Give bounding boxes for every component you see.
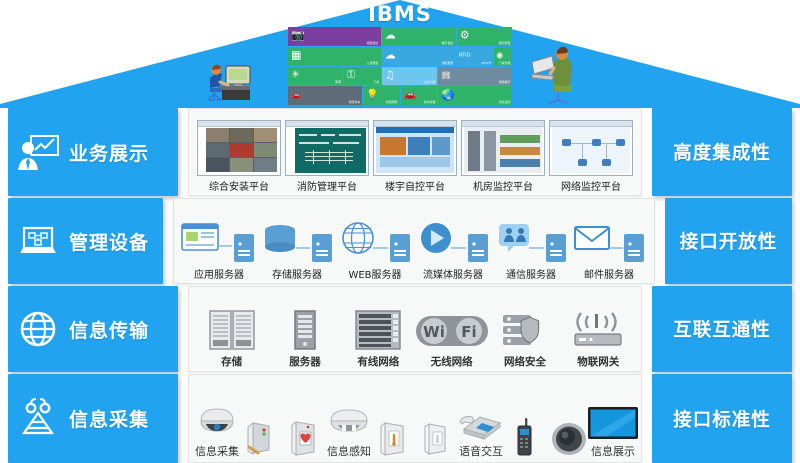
item-art: Wi Fi: [414, 306, 490, 352]
light-switch-icon: [421, 419, 453, 457]
rfid-icon: RFID: [459, 51, 471, 61]
roof-tile-label: 智能楼宇: [498, 80, 510, 84]
item-art: [258, 216, 336, 264]
item-caption: 流媒体服务器: [423, 266, 483, 281]
roof-tile-smart-parking-photo[interactable]: 🚗 智能停车: [288, 86, 362, 105]
roof-section: 📷 视频监控 ☁ 楼宇自控 ⚙ 能源管理 ▦ 入侵报警 ☁ 消防报警 RFID: [0, 0, 800, 108]
item-caption: 信息采集: [195, 443, 239, 459]
attribute-text: 高度集成性: [673, 139, 771, 165]
item-art: [549, 120, 633, 176]
person-with-laptop-icon: [528, 38, 586, 104]
layer-label-business-display[interactable]: 业务展示: [8, 108, 178, 196]
item-art: [570, 216, 648, 264]
layer-content-business-display: 综合安装平台: [188, 108, 642, 196]
item-art: [243, 415, 279, 457]
svg-text:Fi: Fi: [461, 323, 476, 341]
laptop-network-icon: [16, 219, 60, 263]
item-art: [326, 399, 372, 441]
attribute-interface-standardization[interactable]: 接口标准性: [652, 374, 792, 463]
roof-tile-label: 楼宇自控: [442, 41, 454, 45]
wireless-router-icon: [569, 310, 627, 352]
parking-photo-icon: 🚗: [291, 90, 301, 100]
roof-tile-label: RFID卡: [481, 61, 491, 65]
ibms-architecture-diagram: 📷 视频监控 ☁ 楼宇自控 ⚙ 能源管理 ▦ 入侵报警 ☁ 消防报警 RFID: [0, 0, 800, 463]
item-application-server[interactable]: 应用服务器: [180, 203, 258, 281]
item-caption: 有线网络: [357, 354, 399, 369]
item-art: [421, 415, 453, 457]
globe-icon: [16, 307, 60, 351]
item-caption: 综合安装平台: [209, 178, 269, 193]
item-caption: 存储服务器: [272, 266, 322, 281]
roof-tile-energy-management[interactable]: ⚙ 能源管理: [457, 27, 512, 46]
dome-camera-icon: [195, 405, 239, 441]
item-caption: 邮件服务器: [584, 266, 634, 281]
layer-content-information-transmission: 存储 服务器: [188, 286, 642, 372]
item-art: [512, 415, 538, 457]
svg-text:Wi: Wi: [423, 323, 445, 341]
item-datacenter-monitoring-platform[interactable]: 机房监控平台: [459, 113, 547, 193]
attribute-high-integration[interactable]: 高度集成性: [652, 108, 792, 196]
attribute-interconnectivity[interactable]: 互联互通性: [652, 286, 792, 372]
layer-label-information-collection[interactable]: 信息采集: [8, 374, 178, 463]
storage-cabinet-icon: [204, 308, 260, 352]
roof-tile-door-key[interactable]: ⚿ 门禁: [344, 67, 381, 86]
item-building-automation-platform[interactable]: 楼宇自控平台: [371, 113, 459, 193]
roof-tile-rfid[interactable]: RFID RFID卡: [457, 47, 494, 66]
item-mail-server[interactable]: 邮件服务器: [570, 203, 648, 281]
item-art: [376, 415, 410, 457]
item-art: [195, 399, 239, 441]
music-note-icon: ♫: [385, 70, 395, 80]
item-caption: 网络安全: [504, 354, 546, 369]
item-caption: 机房监控平台: [473, 178, 533, 193]
database-cylinder-icon: [258, 220, 336, 264]
grid-panel-icon: ▦: [291, 51, 301, 61]
roof-tile-lighting[interactable]: ☀ 照明: [288, 67, 343, 86]
item-caption: 物联网关: [577, 354, 619, 369]
emergency-button-icon: [288, 419, 322, 457]
attribute-text: 互联互通性: [673, 316, 771, 342]
sensor-antenna-icon: [16, 397, 60, 441]
roof-tile-label: 能源管理: [498, 41, 510, 45]
application-window-icon: [180, 220, 258, 264]
roof-tile-label: 消防报警: [442, 61, 454, 65]
item-art: [204, 306, 260, 352]
environment-icon: 🌏: [441, 90, 455, 100]
item-walkie-talkie[interactable]: [503, 415, 547, 459]
item-server[interactable]: 服务器: [268, 291, 341, 369]
fire-drop-icon: ☁: [385, 51, 396, 61]
item-caption: 语音交互: [459, 443, 503, 459]
envelope-icon: [570, 220, 648, 264]
item-art: [373, 120, 457, 176]
bulb-icon: 💡: [366, 90, 378, 100]
item-art: [197, 120, 281, 176]
item-emergency-button[interactable]: [283, 415, 327, 459]
layer-row-information-collection: 信息采集 信息采集: [0, 374, 800, 463]
roof-tile-label: 门禁: [373, 80, 379, 84]
walkie-talkie-icon: [512, 417, 538, 457]
layer-label-text: 信息采集: [69, 405, 149, 432]
display-screen-icon: [586, 405, 640, 441]
access-control-icon: ◉: [496, 51, 503, 61]
network-topology-screenshot: [549, 120, 633, 176]
item-wired-network[interactable]: 有线网络: [342, 291, 415, 369]
item-caption: 信息感知: [327, 443, 371, 459]
item-storage[interactable]: 存储: [195, 291, 268, 369]
item-network-security[interactable]: 网络安全: [488, 291, 561, 369]
wifi-badge-icon: Wi Fi: [414, 310, 490, 352]
item-caption: 消防管理平台: [297, 178, 357, 193]
desk-phone-icon: [456, 409, 506, 441]
communication-people-icon: [492, 220, 570, 264]
item-art: [180, 216, 258, 264]
item-communication-server[interactable]: 通信服务器: [492, 203, 570, 281]
item-desk-phone[interactable]: 语音交互: [459, 399, 503, 459]
key-icon: ⚿: [347, 70, 355, 80]
roof-tile-label: 视频监控: [367, 41, 379, 45]
roof-tile-video-surveillance[interactable]: 📷 视频监控: [288, 27, 381, 46]
item-caption: 网络监控平台: [561, 178, 621, 193]
item-network-monitoring-platform[interactable]: 网络监控平台: [547, 113, 635, 193]
roof-tile-grid: 📷 视频监控 ☁ 楼宇自控 ⚙ 能源管理 ▦ 入侵报警 ☁ 消防报警 RFID: [288, 27, 512, 105]
cloud-icon: ☁: [385, 31, 396, 41]
item-caption: 服务器: [289, 354, 321, 369]
layer-label-text: 信息传输: [69, 316, 149, 343]
layer-label-text: 业务展示: [69, 139, 149, 166]
globe-wire-icon: [336, 220, 414, 264]
item-fire-management-platform[interactable]: 消防管理平台: [283, 113, 371, 193]
item-caption: 信息展示: [591, 443, 635, 459]
item-caption: 楼宇自控平台: [385, 178, 445, 193]
roof-tile-access-control[interactable]: ◉ 门禁管理: [494, 47, 512, 66]
item-wireless-network[interactable]: Wi Fi 无线网络: [415, 291, 488, 369]
roof-tile-smart-building[interactable]: 🏢 智能楼宇: [438, 67, 512, 86]
item-art: [336, 216, 414, 264]
item-art: [288, 306, 322, 352]
roof-tile-environment-monitoring[interactable]: 🌏 环境监测: [438, 86, 512, 105]
item-art: [456, 399, 506, 441]
item-speaker[interactable]: [547, 415, 591, 459]
roof-tile-label: 智能停车: [348, 100, 360, 104]
building-automation-screenshot: [373, 120, 457, 176]
roof-tile-label: 入侵报警: [367, 61, 379, 65]
roof-tile-label: 环境监测: [498, 100, 510, 104]
layer-label-information-transmission[interactable]: 信息传输: [8, 286, 178, 372]
speaker-icon: [549, 421, 589, 457]
server-tower-icon: [288, 308, 322, 352]
cctv-camera-icon: 📷: [291, 31, 305, 41]
item-art: [500, 306, 550, 352]
layer-row-business-display: 业务展示 综合安装平台: [0, 108, 800, 196]
item-caption: 无线网络: [431, 354, 473, 369]
smoke-detector-icon: [326, 407, 372, 441]
play-button-icon: [414, 220, 492, 264]
layer-content-management-equipment: 应用服务器: [173, 198, 655, 284]
layer-label-text: 管理设备: [69, 228, 149, 255]
item-caption: 通信服务器: [506, 266, 556, 281]
item-dome-camera[interactable]: 信息采集: [195, 399, 239, 459]
roof-tile-parking-management[interactable]: 🚗 停车管理: [401, 86, 438, 105]
roof-tile-fire-alarm[interactable]: ☁ 消防报警: [382, 47, 456, 66]
card-reader-icon: [243, 419, 279, 457]
car-icon: 🚗: [404, 90, 416, 100]
server-shield-icon: [500, 310, 550, 352]
roof-tile-label: 照明: [335, 80, 341, 84]
item-art: [414, 216, 492, 264]
fire-control-screenshot: [285, 120, 369, 176]
item-wall-switch[interactable]: [371, 415, 415, 459]
item-art: [549, 415, 589, 457]
roof-tile-public-broadcast[interactable]: ♫ 公共广播: [382, 67, 437, 86]
item-art: [461, 120, 545, 176]
building-photo-icon: 🏢: [441, 70, 451, 80]
item-streaming-media-server[interactable]: 流媒体服务器: [414, 203, 492, 281]
item-display-screen[interactable]: 信息展示: [591, 399, 635, 459]
layer-content-information-collection: 信息采集: [188, 374, 642, 463]
item-art: [288, 415, 322, 457]
item-art: [586, 399, 640, 441]
item-storage-server[interactable]: 存储服务器: [258, 203, 336, 281]
item-art: [492, 216, 570, 264]
layer-stack: 业务展示 综合安装平台: [0, 108, 800, 463]
roof-tile-building-automation[interactable]: ☁ 楼宇自控: [382, 27, 456, 46]
item-art: [285, 120, 369, 176]
diagram-title: IBMS: [0, 2, 800, 26]
roof-tile-label: 公共广播: [423, 80, 435, 84]
item-web-server[interactable]: WEB服务器: [336, 203, 414, 281]
cctv-multiview-screenshot: [197, 120, 281, 176]
layer-row-management-equipment: 管理设备: [0, 198, 800, 284]
gear-icon: ⚙: [460, 31, 470, 41]
presenter-chart-icon: [16, 130, 60, 174]
attribute-text: 接口开放性: [680, 228, 778, 254]
lighting-icon: ☀: [291, 70, 300, 80]
roof-tile-smart-lighting[interactable]: 💡 智能照明: [363, 86, 400, 105]
item-smoke-detector[interactable]: 信息感知: [327, 399, 371, 459]
roof-tile-intrusion-alarm[interactable]: ▦ 入侵报警: [288, 47, 381, 66]
person-at-desktop-computer-icon: [196, 42, 258, 104]
data-center-monitor-screenshot: [461, 120, 545, 176]
roof-tile-label: 门禁管理: [498, 61, 510, 65]
roof-tile-label: 智能照明: [386, 100, 398, 104]
layer-label-management-equipment[interactable]: 管理设备: [8, 198, 163, 284]
item-light-switch[interactable]: [415, 415, 459, 459]
item-art: [352, 306, 404, 352]
item-caption: 应用服务器: [194, 266, 244, 281]
layer-row-information-transmission: 信息传输: [0, 286, 800, 372]
attribute-interface-openness[interactable]: 接口开放性: [665, 198, 792, 284]
roof-tile-label: 停车管理: [423, 100, 435, 104]
item-integrated-installation-platform[interactable]: 综合安装平台: [195, 113, 283, 193]
patch-panel-rack-icon: [352, 308, 404, 352]
attribute-text: 接口标准性: [673, 406, 771, 432]
item-caption: 存储: [221, 354, 242, 369]
item-art: [569, 306, 627, 352]
item-card-reader[interactable]: [239, 415, 283, 459]
wall-switch-icon: [376, 419, 410, 457]
item-caption: WEB服务器: [348, 266, 401, 281]
item-iot-gateway[interactable]: 物联网关: [562, 291, 635, 369]
